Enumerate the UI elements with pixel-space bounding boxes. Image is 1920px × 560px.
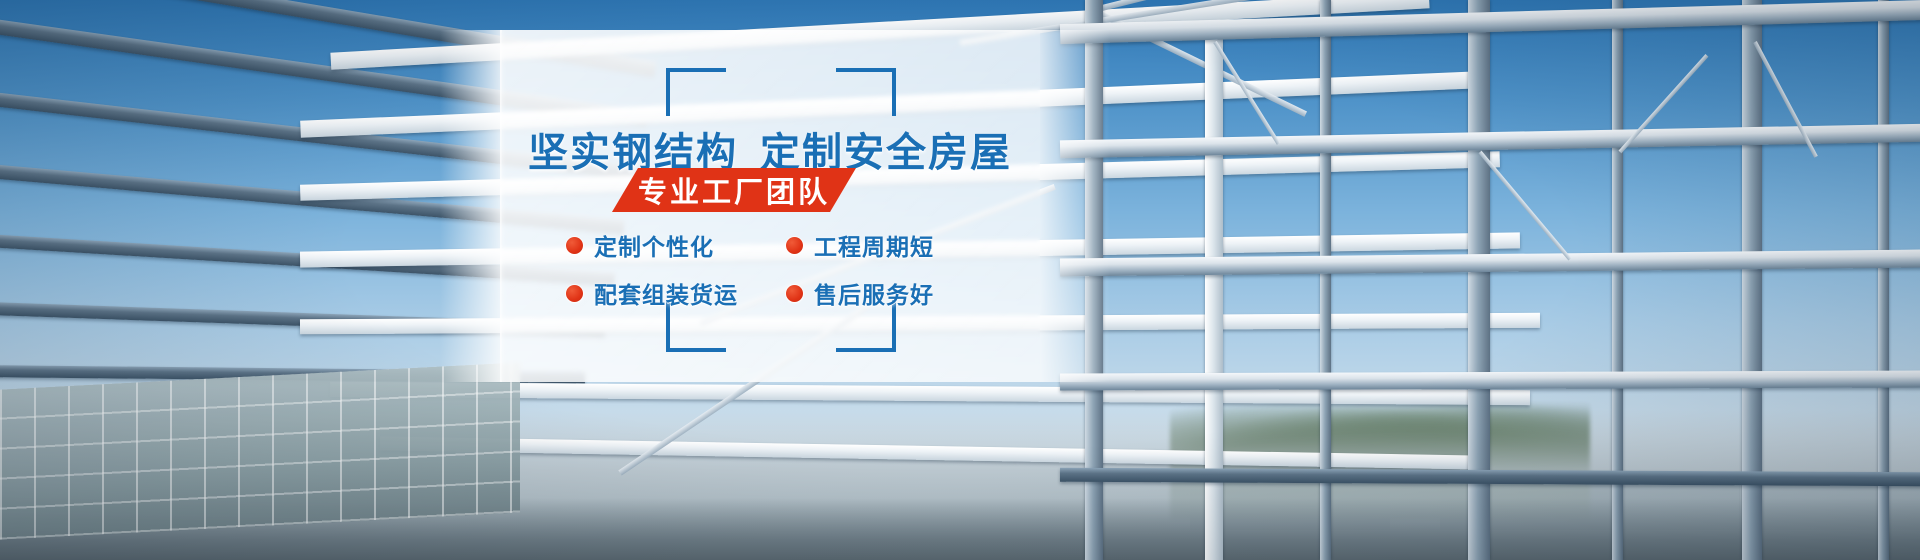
feature-label: 配套组装货运: [594, 276, 738, 310]
feature-item: 工程周期短: [786, 228, 966, 262]
ribbon-label: 专业工厂团队: [638, 169, 830, 211]
feature-item: 售后服务好: [786, 276, 966, 310]
feature-item: 定制个性化: [566, 228, 766, 262]
panel-fade-right: [1040, 30, 1110, 382]
bracket-top-right: [836, 68, 896, 116]
ribbon-badge: 专业工厂团队: [612, 168, 856, 212]
bullet-dot-icon: [786, 285, 803, 302]
bullet-dot-icon: [566, 285, 583, 302]
panel-fade-left: [440, 30, 502, 382]
hero-banner: 坚实钢结构定制安全房屋 专业工厂团队 定制个性化 工程周期短 配套组装货运 售后…: [0, 0, 1920, 560]
bullet-dot-icon: [786, 237, 803, 254]
feature-label: 工程周期短: [814, 228, 934, 262]
feature-label: 定制个性化: [594, 228, 714, 262]
bullet-dot-icon: [566, 237, 583, 254]
bracket-top-left: [666, 68, 726, 116]
feature-label: 售后服务好: [814, 276, 934, 310]
feature-list: 定制个性化 工程周期短 配套组装货运 售后服务好: [566, 228, 986, 310]
feature-item: 配套组装货运: [566, 276, 766, 310]
